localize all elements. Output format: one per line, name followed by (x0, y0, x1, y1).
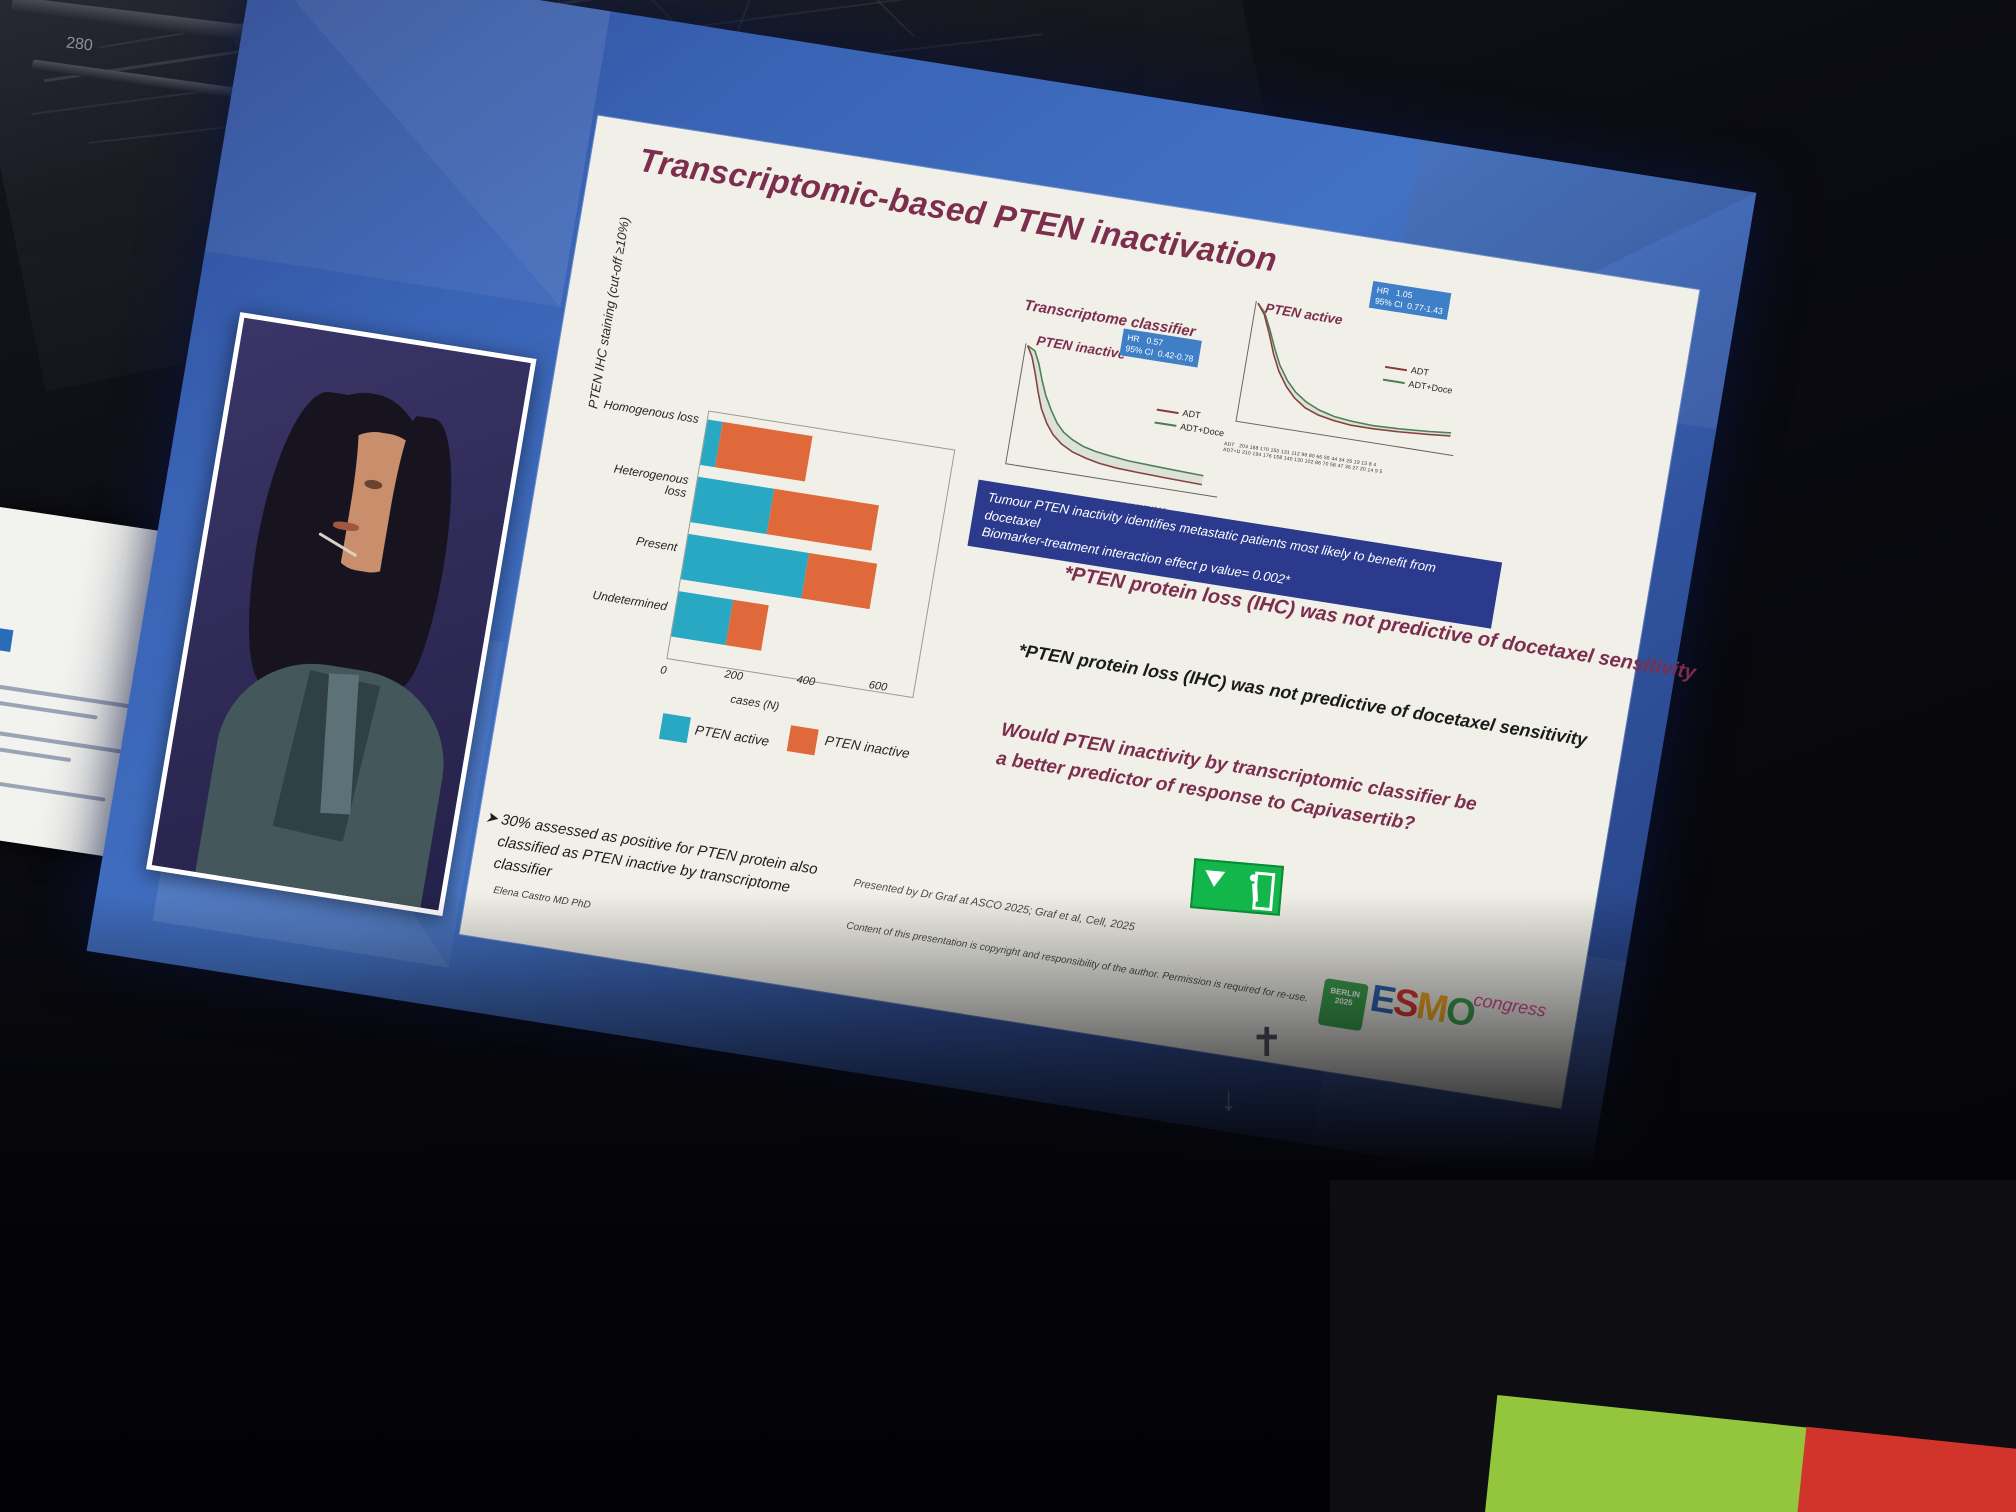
legend-label-pten-active: PTEN active (694, 722, 771, 749)
statement-capivasertib-question: Would PTEN inactivity by transcriptomic … (994, 716, 1479, 847)
bar-active-heterogenous (691, 477, 775, 534)
legend-swatch-pten-inactive (787, 725, 819, 755)
bar-active-present (681, 534, 809, 598)
x-tick-400: 400 (796, 674, 816, 689)
slide-title: Transcriptomic-based PTEN inactivation (636, 141, 1280, 279)
bar-category-label-2: Present (577, 526, 678, 555)
x-tick-200: 200 (724, 668, 744, 683)
bar-inactive-undetermined (726, 600, 769, 651)
conference-hall-photo: 280 295 (0, 0, 2016, 1512)
emergency-exit-sign (1190, 858, 1284, 916)
bar-inactive-present (801, 553, 877, 609)
bar-inactive-homogenous (715, 422, 813, 482)
x-tick-600: 600 (868, 679, 888, 694)
legend-label-pten-inactive: PTEN inactive (824, 733, 911, 761)
pten-ihc-bar-chart: PTEN IHC staining (cut-off ≥10%) Homogen… (524, 368, 1011, 858)
x-axis-title: cases (N) (729, 694, 780, 714)
hvac-icon: ✝ (1250, 1020, 1284, 1066)
km1-legend-adt: ADT (1182, 408, 1201, 421)
bar-category-label-0: Homogenous loss (599, 398, 700, 427)
pipe-marker-280: 280 (65, 34, 94, 55)
bullet-arrow-icon: ➤ (484, 807, 500, 830)
bar-category-label-3: Undetermined (559, 584, 668, 614)
x-tick-0: 0 (659, 664, 667, 677)
km2-ci-value: 0.77-1.43 (1407, 300, 1444, 315)
bar-active-undetermined (671, 591, 733, 645)
exit-arrow-icon (1204, 870, 1225, 888)
km2-legend-adt: ADT (1410, 365, 1429, 378)
legend-swatch-pten-active (659, 713, 691, 743)
bar-inactive-heterogenous (767, 489, 879, 551)
bar-chart-y-axis-label: PTEN IHC staining (cut-off ≥10%) (582, 198, 635, 427)
bar-category-label-1: Heterogenous loss (586, 459, 689, 501)
exit-person-body (1252, 883, 1258, 901)
bar-chart-plot-area (666, 411, 955, 699)
